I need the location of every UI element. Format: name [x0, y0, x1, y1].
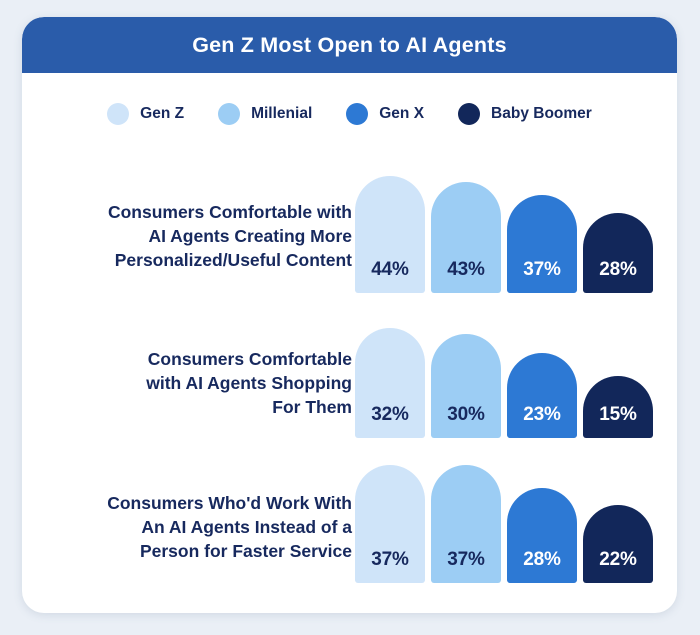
- chart-card: Gen Z Most Open to AI Agents Gen Z Mille…: [22, 17, 677, 613]
- chart-plot-area: Consumers Comfortable with AI Agents Cre…: [22, 157, 677, 592]
- bar-value-label: 44%: [371, 259, 408, 293]
- bar[interactable]: 32%: [355, 328, 425, 438]
- bar-value-label: 22%: [599, 549, 636, 583]
- bar[interactable]: 37%: [431, 465, 501, 583]
- bar[interactable]: 43%: [431, 182, 501, 293]
- bar[interactable]: 30%: [431, 334, 501, 438]
- bar-value-label: 43%: [447, 259, 484, 293]
- legend-swatch-icon: [107, 103, 129, 125]
- legend-swatch-icon: [346, 103, 368, 125]
- bar-group: 44% 43% 37% 28%: [355, 167, 655, 293]
- chart-group-row: Consumers Who'd Work With An AI Agents I…: [22, 447, 677, 592]
- chart-title-bar: Gen Z Most Open to AI Agents: [22, 17, 677, 73]
- bar[interactable]: 28%: [507, 488, 577, 583]
- bar-value-label: 37%: [447, 549, 484, 583]
- bar[interactable]: 28%: [583, 213, 653, 293]
- bar[interactable]: 23%: [507, 353, 577, 438]
- bar-value-label: 28%: [599, 259, 636, 293]
- legend-label: Gen X: [379, 105, 424, 123]
- bar-value-label: 23%: [523, 404, 560, 438]
- legend-label: Gen Z: [140, 105, 184, 123]
- category-label: Consumers Comfortable with AI Agents Cre…: [32, 200, 352, 272]
- chart-legend: Gen Z Millenial Gen X Baby Boomer: [22, 103, 677, 125]
- legend-item-gen-x[interactable]: Gen X: [346, 103, 424, 125]
- chart-group-row: Consumers Comfortable with AI Agents Sho…: [22, 302, 677, 447]
- bar-group: 37% 37% 28% 22%: [355, 457, 655, 583]
- chart-group-row: Consumers Comfortable with AI Agents Cre…: [22, 157, 677, 302]
- bar-value-label: 32%: [371, 404, 408, 438]
- bar[interactable]: 15%: [583, 376, 653, 438]
- bar-value-label: 37%: [523, 259, 560, 293]
- bar-value-label: 15%: [599, 404, 636, 438]
- legend-item-gen-z[interactable]: Gen Z: [107, 103, 184, 125]
- bar-value-label: 37%: [371, 549, 408, 583]
- legend-swatch-icon: [218, 103, 240, 125]
- page-title: Gen Z Most Open to AI Agents: [192, 33, 507, 58]
- legend-label: Millenial: [251, 105, 312, 123]
- bar-value-label: 28%: [523, 549, 560, 583]
- legend-swatch-icon: [458, 103, 480, 125]
- chart-page: Gen Z Most Open to AI Agents Gen Z Mille…: [0, 0, 700, 635]
- bar[interactable]: 22%: [583, 505, 653, 583]
- legend-item-baby-boomer[interactable]: Baby Boomer: [458, 103, 592, 125]
- legend-item-millenial[interactable]: Millenial: [218, 103, 312, 125]
- bar-group: 32% 30% 23% 15%: [355, 312, 655, 438]
- bar-value-label: 30%: [447, 404, 484, 438]
- category-label: Consumers Who'd Work With An AI Agents I…: [32, 491, 352, 563]
- category-label: Consumers Comfortable with AI Agents Sho…: [32, 347, 352, 419]
- bar[interactable]: 37%: [507, 195, 577, 293]
- legend-label: Baby Boomer: [491, 105, 592, 123]
- bar[interactable]: 37%: [355, 465, 425, 583]
- bar[interactable]: 44%: [355, 176, 425, 293]
